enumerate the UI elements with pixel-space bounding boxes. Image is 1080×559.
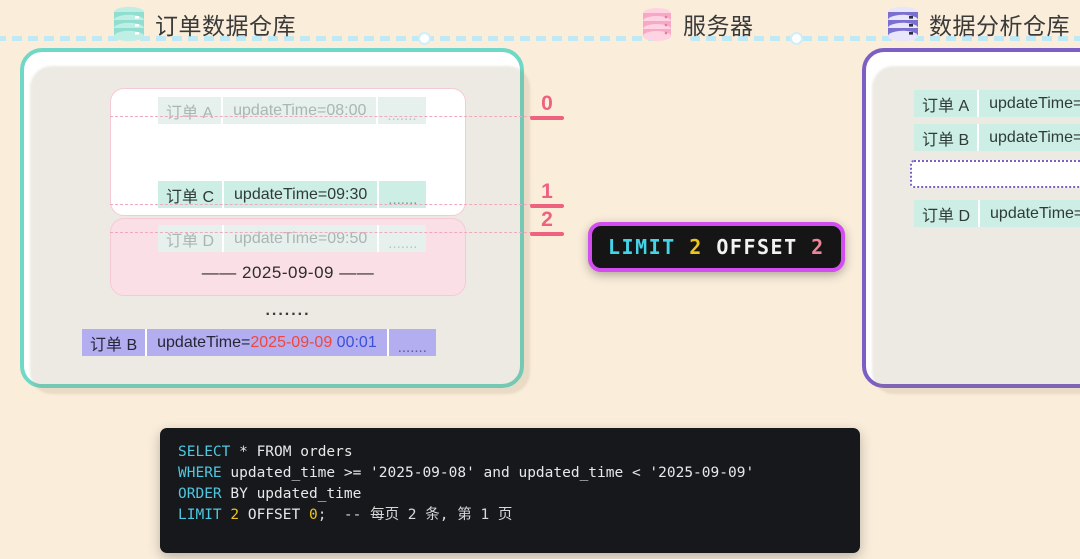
sql-l1-keyword: SELECT [178, 444, 230, 460]
sql-l3-keyword: ORDER [178, 486, 222, 502]
target-row-a: 订单 A updateTime=08:00 [914, 90, 1080, 117]
leader-line-offset2 [110, 232, 562, 233]
limit-offset-badge: LIMIT 2 OFFSET 2 [588, 222, 845, 272]
target-row-b: 订单 B updateTime=00:01 [914, 124, 1080, 151]
badge-offset-value: 2 [811, 235, 825, 259]
order-row-d-field: updateTime=09:50 [224, 225, 379, 252]
order-row-a-dots: ....... [378, 97, 425, 124]
order-row-b-field: updateTime=2025-09-09 00:01 [147, 329, 389, 356]
offset-tick-1-label: 1 [530, 183, 564, 201]
date-separator: —— 2025-09-09 —— [111, 263, 465, 283]
sql-l4-offset-value: 0 [309, 507, 318, 523]
diagram-canvas: 订单数据仓库 服务器 数据分析仓库 订单 A updateTime=0 [0, 0, 1080, 559]
order-row-b-time: 00:01 [337, 334, 377, 352]
offset-tick-0-label: 0 [530, 95, 564, 113]
order-row-a-field: updateTime=08:00 [223, 97, 378, 124]
offset-tick-0: 0 [530, 95, 564, 120]
order-row-b-dots: ....... [389, 329, 436, 356]
badge-offset-keyword: OFFSET [716, 235, 797, 259]
offset-tick-1: 1 [530, 183, 564, 208]
order-row-d-dots: ....... [379, 225, 426, 252]
order-row-b-prefix: updateTime= [157, 334, 250, 352]
offset-tick-0-bar [530, 116, 564, 120]
target-row-b-id: 订单 B [914, 124, 979, 151]
offset-tick-2: 2 [530, 211, 564, 236]
leader-line-offset1 [110, 204, 562, 205]
connector-rail-mid [424, 36, 664, 41]
order-row-d: 订单 D updateTime=09:50 ....... [158, 225, 426, 252]
target-row-d-id: 订单 D [914, 200, 980, 227]
badge-limit-keyword: LIMIT [608, 235, 676, 259]
order-row-b-date: 2025-09-09 [250, 334, 332, 352]
current-page-window: 订单 A updateTime=08:00 ....... 订单 C updat… [110, 88, 466, 216]
source-warehouse-panel: 订单 A updateTime=08:00 ....... 订单 C updat… [20, 48, 524, 388]
order-row-a-id: 订单 A [158, 97, 223, 124]
sql-l1-rest: * FROM orders [230, 444, 352, 460]
header-title-server: 服务器 [683, 7, 754, 41]
target-row-b-field: updateTime=00:01 [979, 124, 1080, 151]
order-row-b-moved: 订单 B updateTime=2025-09-09 00:01 ....... [82, 329, 436, 356]
order-row-d-id: 订单 D [158, 225, 224, 252]
sql-l4-limit-value: 2 [230, 507, 239, 523]
sql-l2-rest: updated_time >= '2025-09-08' and updated… [222, 465, 755, 481]
database-icon-server [640, 6, 674, 42]
connector-dot-2 [790, 32, 803, 45]
header-title-source: 订单数据仓库 [155, 7, 296, 41]
header-server: 服务器 [640, 0, 754, 48]
header-target: 数据分析仓库 [886, 0, 1070, 48]
target-row-d-field: updateTime=09:50 [980, 200, 1080, 227]
offset-tick-2-label: 2 [530, 211, 564, 229]
sql-l4-comment: ; -- 每页 2 条, 第 1 页 [318, 507, 513, 523]
header-title-target: 数据分析仓库 [929, 7, 1070, 41]
header-source: 订单数据仓库 [112, 0, 296, 48]
vertical-ellipsis: ....... [110, 302, 466, 320]
order-row-b-id: 订单 B [82, 329, 147, 356]
target-row-a-field: updateTime=08:00 [979, 90, 1080, 117]
sql-l3-rest: BY updated_time [222, 486, 362, 502]
order-row-a: 订单 A updateTime=08:00 ....... [158, 97, 426, 124]
missing-row-placeholder [910, 160, 1080, 188]
badge-limit-value: 2 [689, 235, 703, 259]
connector-dot-1 [418, 32, 431, 45]
offset-tick-2-bar [530, 232, 564, 236]
target-row-a-id: 订单 A [914, 90, 979, 117]
sql-l4-keyword: LIMIT [178, 507, 222, 523]
target-row-d: 订单 D updateTime=09:50 [914, 200, 1080, 227]
leader-line-offset0 [110, 116, 562, 117]
sql-l4-offset-keyword: OFFSET [239, 507, 309, 523]
sql-code-block: SELECT * FROM orders WHERE updated_time … [160, 428, 860, 553]
target-warehouse-panel: 订单 A updateTime=08:00 订单 B updateTime=00… [862, 48, 1080, 388]
sql-l2-keyword: WHERE [178, 465, 222, 481]
database-icon-target [886, 6, 920, 42]
database-icon-source [112, 6, 146, 42]
next-page-window: 订单 D updateTime=09:50 ....... —— 2025-09… [110, 218, 466, 296]
